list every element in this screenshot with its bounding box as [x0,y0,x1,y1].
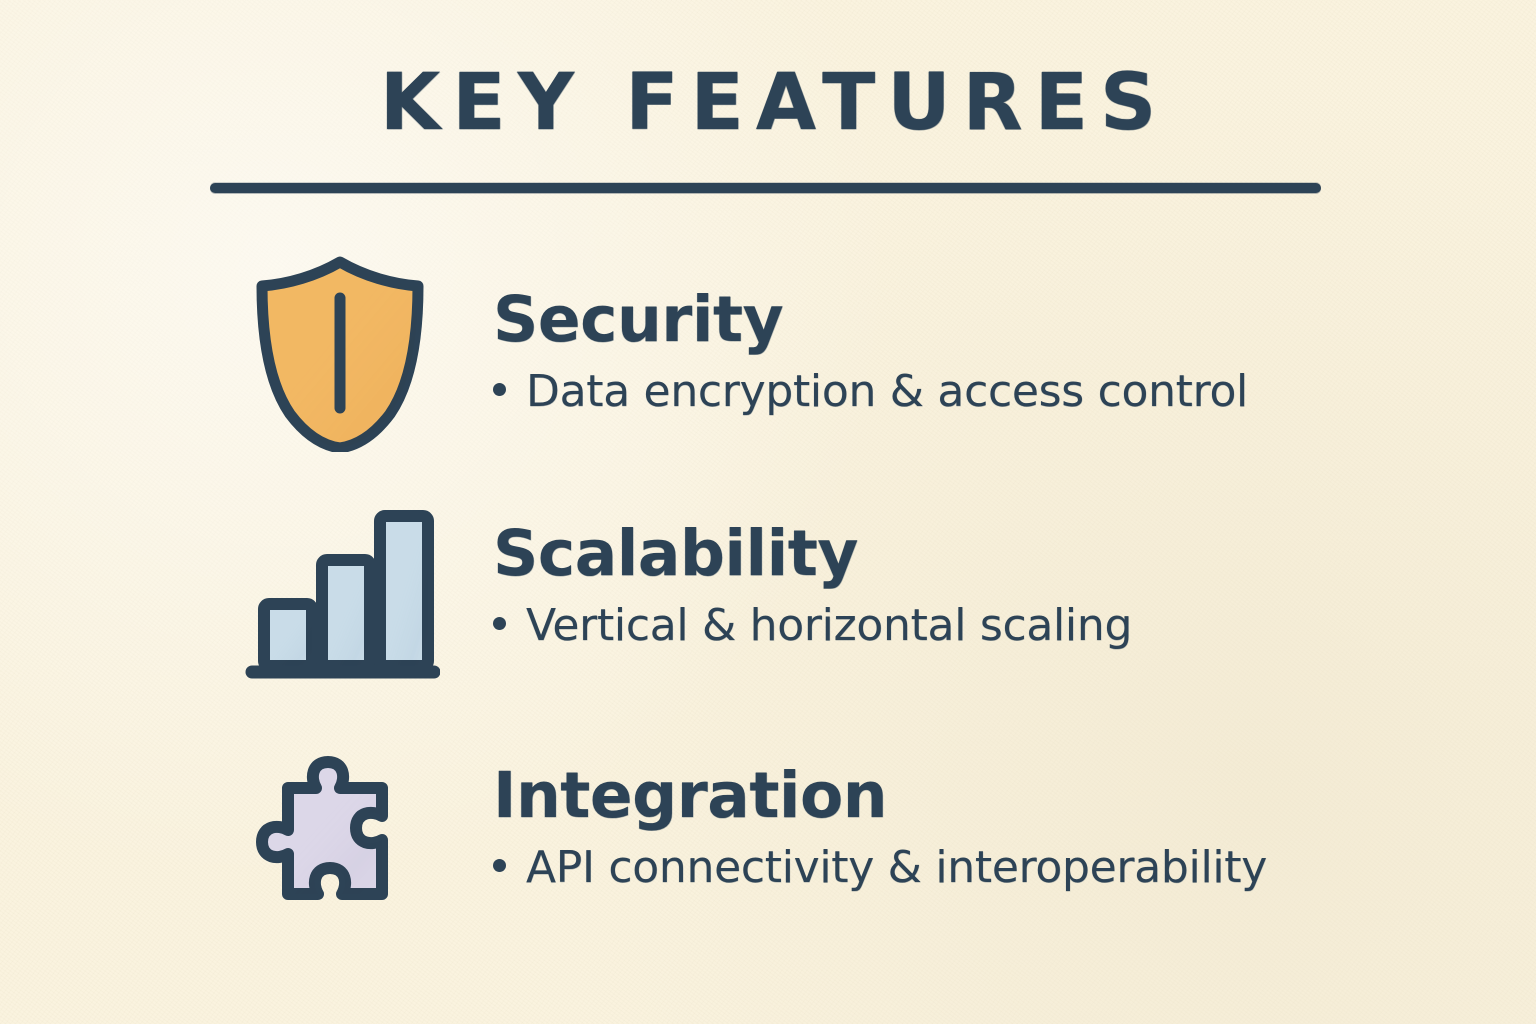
feature-heading: Scalability [493,520,1503,588]
bullet-dot-icon [493,859,506,872]
slide-header: KEY FEATURES [0,0,1536,210]
feature-bullet: API connectivity & interoperability [493,844,1503,892]
bullet-dot-icon [493,617,506,630]
feature-row-security: Security Data encryption & access contro… [0,250,1536,470]
feature-bullet: Vertical & horizontal scaling [493,602,1503,650]
feature-bullet-text: API connectivity & interoperability [526,844,1267,892]
slide-canvas: KEY FEATURES [0,0,1536,1024]
bar-chart-icon [244,500,440,686]
feature-row-scalability: Scalability Vertical & horizontal scalin… [0,492,1536,712]
feature-text-integration: Integration API connectivity & interoper… [493,762,1503,892]
feature-heading: Integration [493,762,1503,830]
feature-bullet-text: Vertical & horizontal scaling [526,602,1132,650]
feature-bullet-text: Data encryption & access control [526,368,1248,416]
page-title: KEY FEATURES [0,64,1536,142]
shield-icon [252,256,428,452]
feature-bullet: Data encryption & access control [493,368,1503,416]
feature-text-scalability: Scalability Vertical & horizontal scalin… [493,520,1503,650]
feature-row-integration: Integration API connectivity & interoper… [0,740,1536,960]
feature-heading: Security [493,286,1503,354]
puzzle-piece-icon [252,750,410,914]
title-underline-rule [210,183,1321,193]
feature-text-security: Security Data encryption & access contro… [493,286,1503,416]
bullet-dot-icon [493,383,506,396]
